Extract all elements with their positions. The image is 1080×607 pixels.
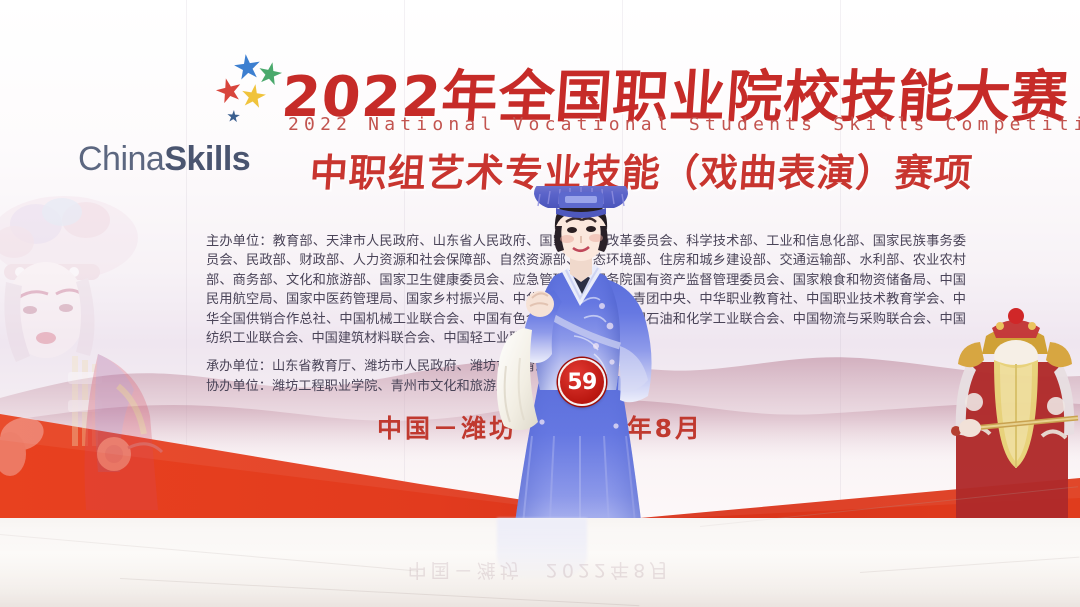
opera-laosheng-figure-graphic <box>950 292 1080 520</box>
star-small-navy-icon <box>227 110 241 124</box>
star-green-icon <box>256 60 284 88</box>
coorganizer-label: 协办单位： <box>206 379 272 394</box>
logo-wordmark-bold: Skills <box>164 140 250 178</box>
logo-wordmark: ChinaSkills <box>78 140 250 179</box>
photo-stage: ChinaSkills 2022年全国职业院校技能大赛 2022 Nationa… <box>0 0 1080 607</box>
logo-wordmark-light: China <box>78 140 164 178</box>
opera-dan-figure-graphic <box>0 186 184 516</box>
banner-title-english: 2022 National Vocational Students Skills… <box>288 114 1018 135</box>
contestant-number-badge: 59 <box>558 358 606 406</box>
star-yellow-icon <box>239 82 268 111</box>
chinaskills-logo: ChinaSkills <box>78 52 303 187</box>
star-red-icon <box>213 75 245 107</box>
reflective-floor: 中国－潍坊 2022年8月 <box>0 518 1080 607</box>
star-blue-icon <box>232 52 262 82</box>
undertaker-label: 承办单位： <box>206 359 272 374</box>
host-organizers-label: 主办单位： <box>206 234 273 249</box>
